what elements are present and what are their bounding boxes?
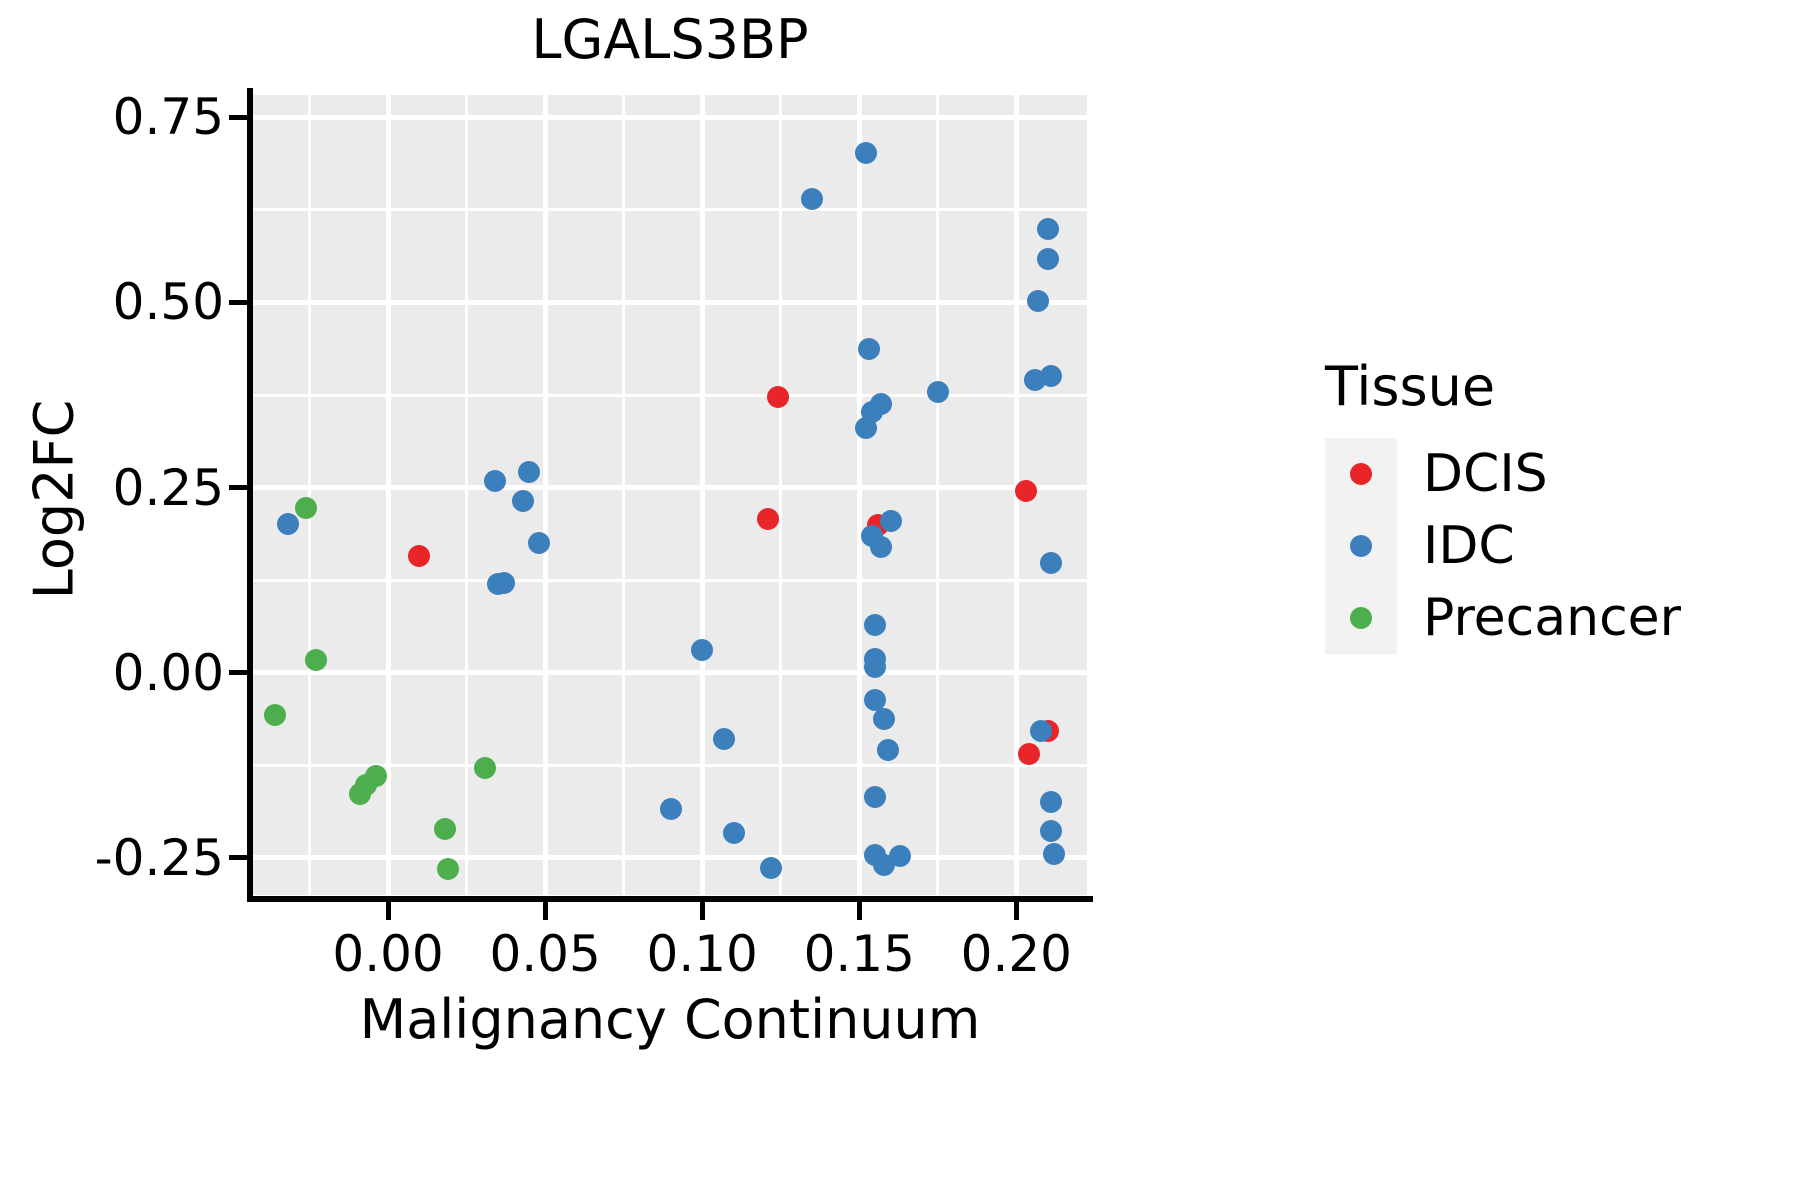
- data-point-idc: [713, 728, 735, 750]
- data-point-dcis: [1015, 480, 1037, 502]
- legend-item-dcis[interactable]: DCIS: [1325, 438, 1681, 510]
- legend-item-label: IDC: [1423, 516, 1515, 576]
- data-point-idc: [889, 845, 911, 867]
- x-tick-label: 0.10: [647, 925, 758, 983]
- x-tick-label: 0.05: [489, 925, 600, 983]
- data-point-idc: [484, 470, 506, 492]
- y-axis-line: [247, 88, 253, 902]
- gridline-major-horizontal: [253, 300, 1087, 305]
- legend-items: DCISIDCPrecancer: [1325, 438, 1681, 654]
- data-point-precancer: [264, 704, 286, 726]
- legend-title: Tissue: [1325, 355, 1681, 418]
- data-point-dcis: [757, 508, 779, 530]
- data-point-precancer: [434, 818, 456, 840]
- x-tick-mark: [700, 902, 705, 920]
- gridline-minor-vertical: [936, 95, 939, 895]
- gridline-minor-vertical: [622, 95, 625, 895]
- y-tick-mark: [229, 670, 247, 675]
- gridline-minor-vertical: [308, 95, 311, 895]
- data-point-idc: [927, 381, 949, 403]
- x-tick-mark: [857, 902, 862, 920]
- data-point-idc: [870, 393, 892, 415]
- legend-item-label: Precancer: [1423, 588, 1681, 648]
- data-point-idc: [1037, 218, 1059, 240]
- legend-item-idc[interactable]: IDC: [1325, 510, 1681, 582]
- gridline-major-vertical: [700, 95, 705, 895]
- data-point-idc: [877, 739, 899, 761]
- gridline-major-horizontal: [253, 115, 1087, 120]
- data-point-idc: [691, 639, 713, 661]
- data-point-idc: [518, 461, 540, 483]
- legend-item-precancer[interactable]: Precancer: [1325, 582, 1681, 654]
- page-title: LGALS3BP: [250, 8, 1090, 71]
- legend-key-swatch: [1325, 582, 1397, 654]
- x-tick-mark: [386, 902, 391, 920]
- y-axis-label: Log2FC: [23, 250, 86, 750]
- data-point-precancer: [365, 765, 387, 787]
- data-point-idc: [1040, 791, 1062, 813]
- y-tick-mark: [229, 300, 247, 305]
- legend-item-label: DCIS: [1423, 444, 1548, 504]
- x-axis-label: Malignancy Continuum: [253, 988, 1087, 1051]
- data-point-precancer: [437, 858, 459, 880]
- data-point-idc: [760, 857, 782, 879]
- data-point-idc: [1030, 720, 1052, 742]
- x-tick-mark: [543, 902, 548, 920]
- y-tick-label: -0.25: [95, 829, 224, 887]
- y-tick-label: 0.25: [113, 459, 224, 517]
- gridline-major-horizontal: [253, 670, 1087, 675]
- gridline-major-vertical: [543, 95, 548, 895]
- data-point-idc: [873, 708, 895, 730]
- data-point-idc: [512, 490, 534, 512]
- data-point-precancer: [474, 757, 496, 779]
- x-tick-label: 0.00: [332, 925, 443, 983]
- legend-dot-icon: [1350, 463, 1372, 485]
- data-point-idc: [723, 822, 745, 844]
- data-point-idc: [1027, 290, 1049, 312]
- data-point-dcis: [1018, 743, 1040, 765]
- plot-panel: [253, 95, 1087, 895]
- x-axis-line: [247, 896, 1093, 902]
- y-tick-mark: [229, 855, 247, 860]
- scatter-plot-figure: LGALS3BP -0.250.000.250.500.75 0.000.050…: [0, 0, 1800, 1200]
- y-tick-mark: [229, 115, 247, 120]
- data-point-idc: [528, 532, 550, 554]
- data-point-idc: [493, 572, 515, 594]
- x-tick-label: 0.20: [961, 925, 1072, 983]
- gridline-minor-horizontal: [253, 208, 1087, 211]
- legend-dot-icon: [1350, 535, 1372, 557]
- data-point-idc: [864, 614, 886, 636]
- legend-dot-icon: [1350, 607, 1372, 629]
- data-point-idc: [277, 513, 299, 535]
- data-point-precancer: [305, 649, 327, 671]
- data-point-idc: [858, 338, 880, 360]
- y-tick-label: 0.50: [113, 273, 224, 331]
- legend-key-swatch: [1325, 510, 1397, 582]
- gridline-major-vertical: [857, 95, 862, 895]
- data-point-idc: [801, 188, 823, 210]
- data-point-idc: [660, 798, 682, 820]
- data-point-idc: [1037, 248, 1059, 270]
- gridline-minor-horizontal: [253, 579, 1087, 582]
- data-point-idc: [1040, 820, 1062, 842]
- legend: Tissue DCISIDCPrecancer: [1325, 355, 1681, 654]
- y-tick-label: 0.00: [113, 644, 224, 702]
- x-tick-mark: [1014, 902, 1019, 920]
- data-point-precancer: [295, 497, 317, 519]
- gridline-minor-vertical: [779, 95, 782, 895]
- data-point-idc: [864, 656, 886, 678]
- data-point-idc: [880, 510, 902, 532]
- data-point-idc: [870, 536, 892, 558]
- y-tick-label: 0.75: [113, 88, 224, 146]
- x-tick-label: 0.15: [804, 925, 915, 983]
- y-tick-mark: [229, 485, 247, 490]
- data-point-idc: [1040, 365, 1062, 387]
- data-point-idc: [855, 142, 877, 164]
- data-point-dcis: [408, 545, 430, 567]
- gridline-major-horizontal: [253, 485, 1087, 490]
- legend-key-swatch: [1325, 438, 1397, 510]
- data-point-idc: [1043, 843, 1065, 865]
- gridline-minor-vertical: [465, 95, 468, 895]
- data-point-dcis: [767, 386, 789, 408]
- data-point-idc: [1040, 552, 1062, 574]
- data-point-idc: [864, 786, 886, 808]
- gridline-major-horizontal: [253, 855, 1087, 860]
- gridline-minor-horizontal: [253, 394, 1087, 397]
